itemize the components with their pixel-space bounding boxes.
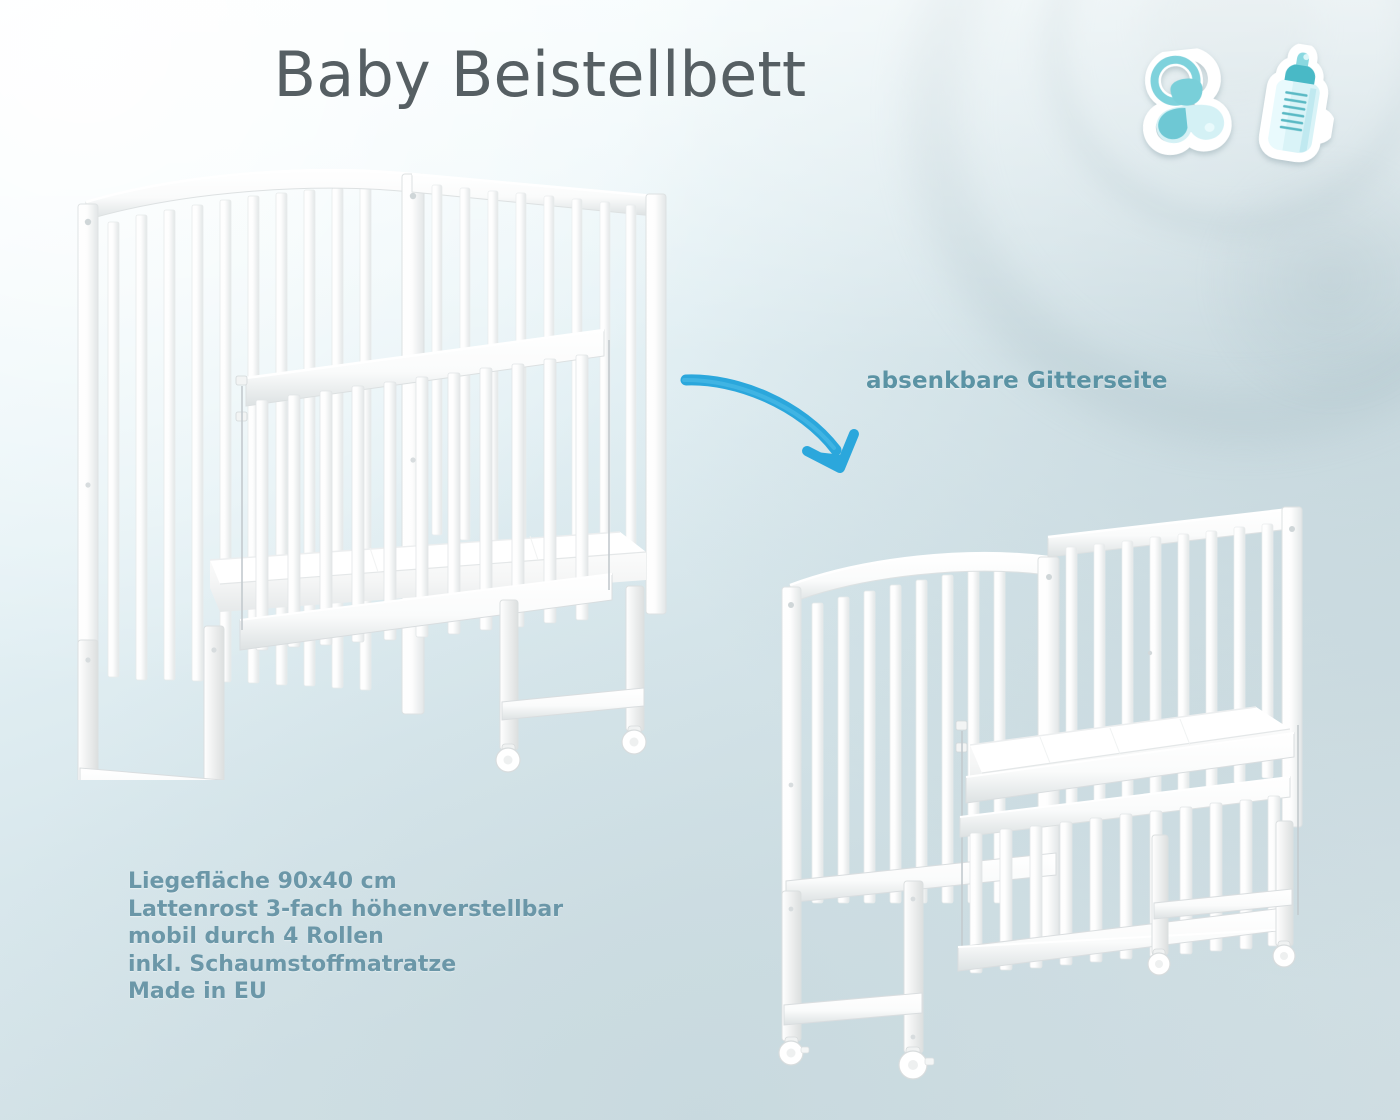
- feature-list: Liegefläche 90x40 cm Lattenrost 3-fach h…: [128, 868, 563, 1006]
- callout-label: absenkbare Gitterseite: [866, 368, 1168, 394]
- page-title: Baby Beistellbett: [0, 42, 1080, 108]
- feature-item-rollen: mobil durch 4 Rollen: [128, 923, 563, 951]
- product-image-crib-raised: [60, 160, 670, 780]
- pacifier-icon: [1133, 45, 1236, 162]
- baby-bottle-icon: [1247, 38, 1344, 167]
- product-image-crib-lowered: [770, 485, 1370, 1105]
- feature-item-matratze: inkl. Schaumstoffmatratze: [128, 951, 563, 979]
- feature-item-liegeflaeche: Liegefläche 90x40 cm: [128, 868, 563, 896]
- feature-item-lattenrost: Lattenrost 3-fach höhenverstellbar: [128, 896, 563, 924]
- curved-down-right-arrow-icon: [676, 358, 896, 483]
- product-banner: Baby Beistellbett: [0, 0, 1400, 1120]
- feature-item-made-in-eu: Made in EU: [128, 978, 563, 1006]
- decorative-icon-group: [1138, 44, 1348, 164]
